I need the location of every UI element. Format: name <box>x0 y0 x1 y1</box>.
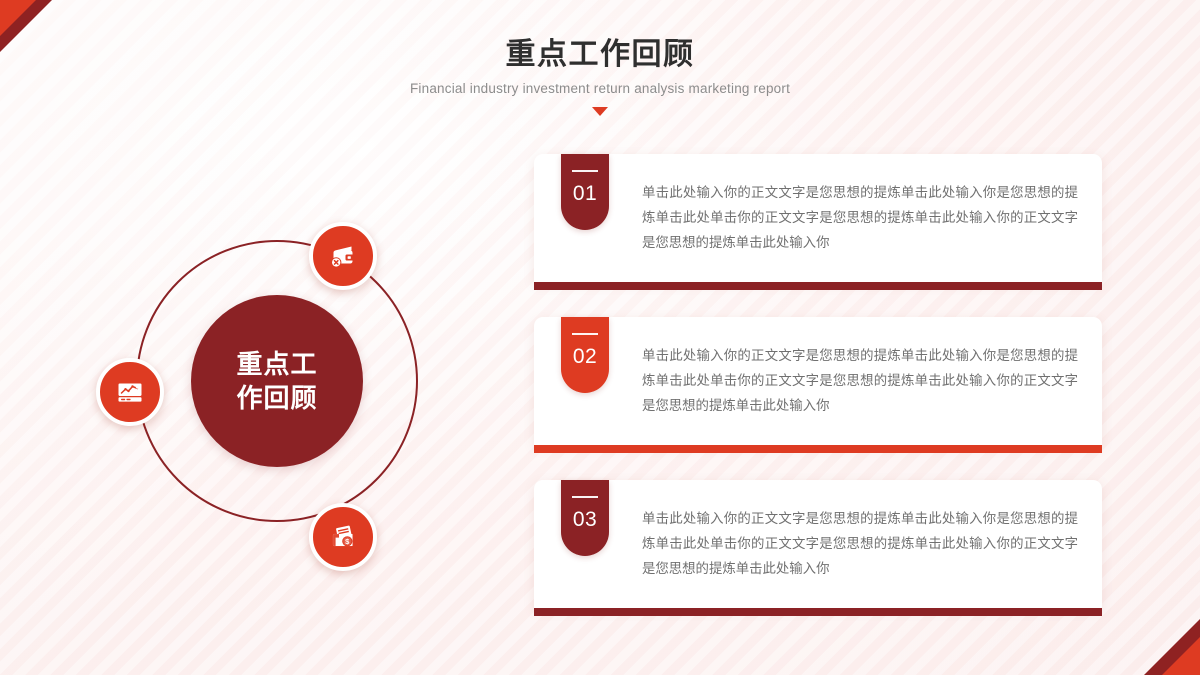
card-number-badge: 03 <box>561 480 609 556</box>
slide-header: 重点工作回顾 Financial industry investment ret… <box>0 36 1200 116</box>
badge-dash <box>572 333 598 335</box>
corner-decoration-top-left-bright <box>0 0 36 36</box>
diagram-node-top[interactable] <box>309 222 377 290</box>
circular-diagram: 重点工 作回顾 <box>96 222 454 580</box>
card-bottom-bar <box>534 608 1102 616</box>
chart-monitor-icon <box>113 375 147 409</box>
card-number: 03 <box>573 507 597 533</box>
card-body-text: 单击此处输入你的正文文字是您思想的提炼单击此处输入你是您思想的提炼单击此处单击你… <box>642 506 1078 581</box>
diagram-node-bottom[interactable]: $ <box>309 503 377 571</box>
wallet-money-icon: $ <box>326 520 360 554</box>
card-bottom-bar <box>534 445 1102 453</box>
card-body-text: 单击此处输入你的正文文字是您思想的提炼单击此处输入你是您思想的提炼单击此处单击你… <box>642 343 1078 418</box>
card-number-badge: 02 <box>561 317 609 393</box>
card-number-badge: 01 <box>561 154 609 230</box>
content-card[interactable]: 01 单击此处输入你的正文文字是您思想的提炼单击此处输入你是您思想的提炼单击此处… <box>534 154 1102 282</box>
diagram-hub-line-2: 作回顾 <box>236 381 317 415</box>
corner-decoration-bottom-right-bright <box>1162 637 1200 675</box>
badge-dash <box>572 170 598 172</box>
triangle-down-icon <box>592 107 608 116</box>
content-card[interactable]: 03 单击此处输入你的正文文字是您思想的提炼单击此处输入你是您思想的提炼单击此处… <box>534 480 1102 608</box>
page-title: 重点工作回顾 <box>0 36 1200 74</box>
diagram-hub: 重点工 作回顾 <box>191 295 363 467</box>
content-card[interactable]: 02 单击此处输入你的正文文字是您思想的提炼单击此处输入你是您思想的提炼单击此处… <box>534 317 1102 445</box>
diagram-hub-line-1: 重点工 <box>236 347 317 381</box>
content-card-list: 01 单击此处输入你的正文文字是您思想的提炼单击此处输入你是您思想的提炼单击此处… <box>534 154 1102 643</box>
card-number: 02 <box>573 344 597 370</box>
card-body-text: 单击此处输入你的正文文字是您思想的提炼单击此处输入你是您思想的提炼单击此处单击你… <box>642 180 1078 255</box>
wallet-cancel-icon <box>326 239 360 273</box>
diagram-node-left[interactable] <box>96 358 164 426</box>
card-number: 01 <box>573 181 597 207</box>
card-bottom-bar <box>534 282 1102 290</box>
badge-dash <box>572 496 598 498</box>
page-subtitle: Financial industry investment return ana… <box>0 81 1200 96</box>
slide-canvas: 重点工作回顾 Financial industry investment ret… <box>0 0 1200 675</box>
